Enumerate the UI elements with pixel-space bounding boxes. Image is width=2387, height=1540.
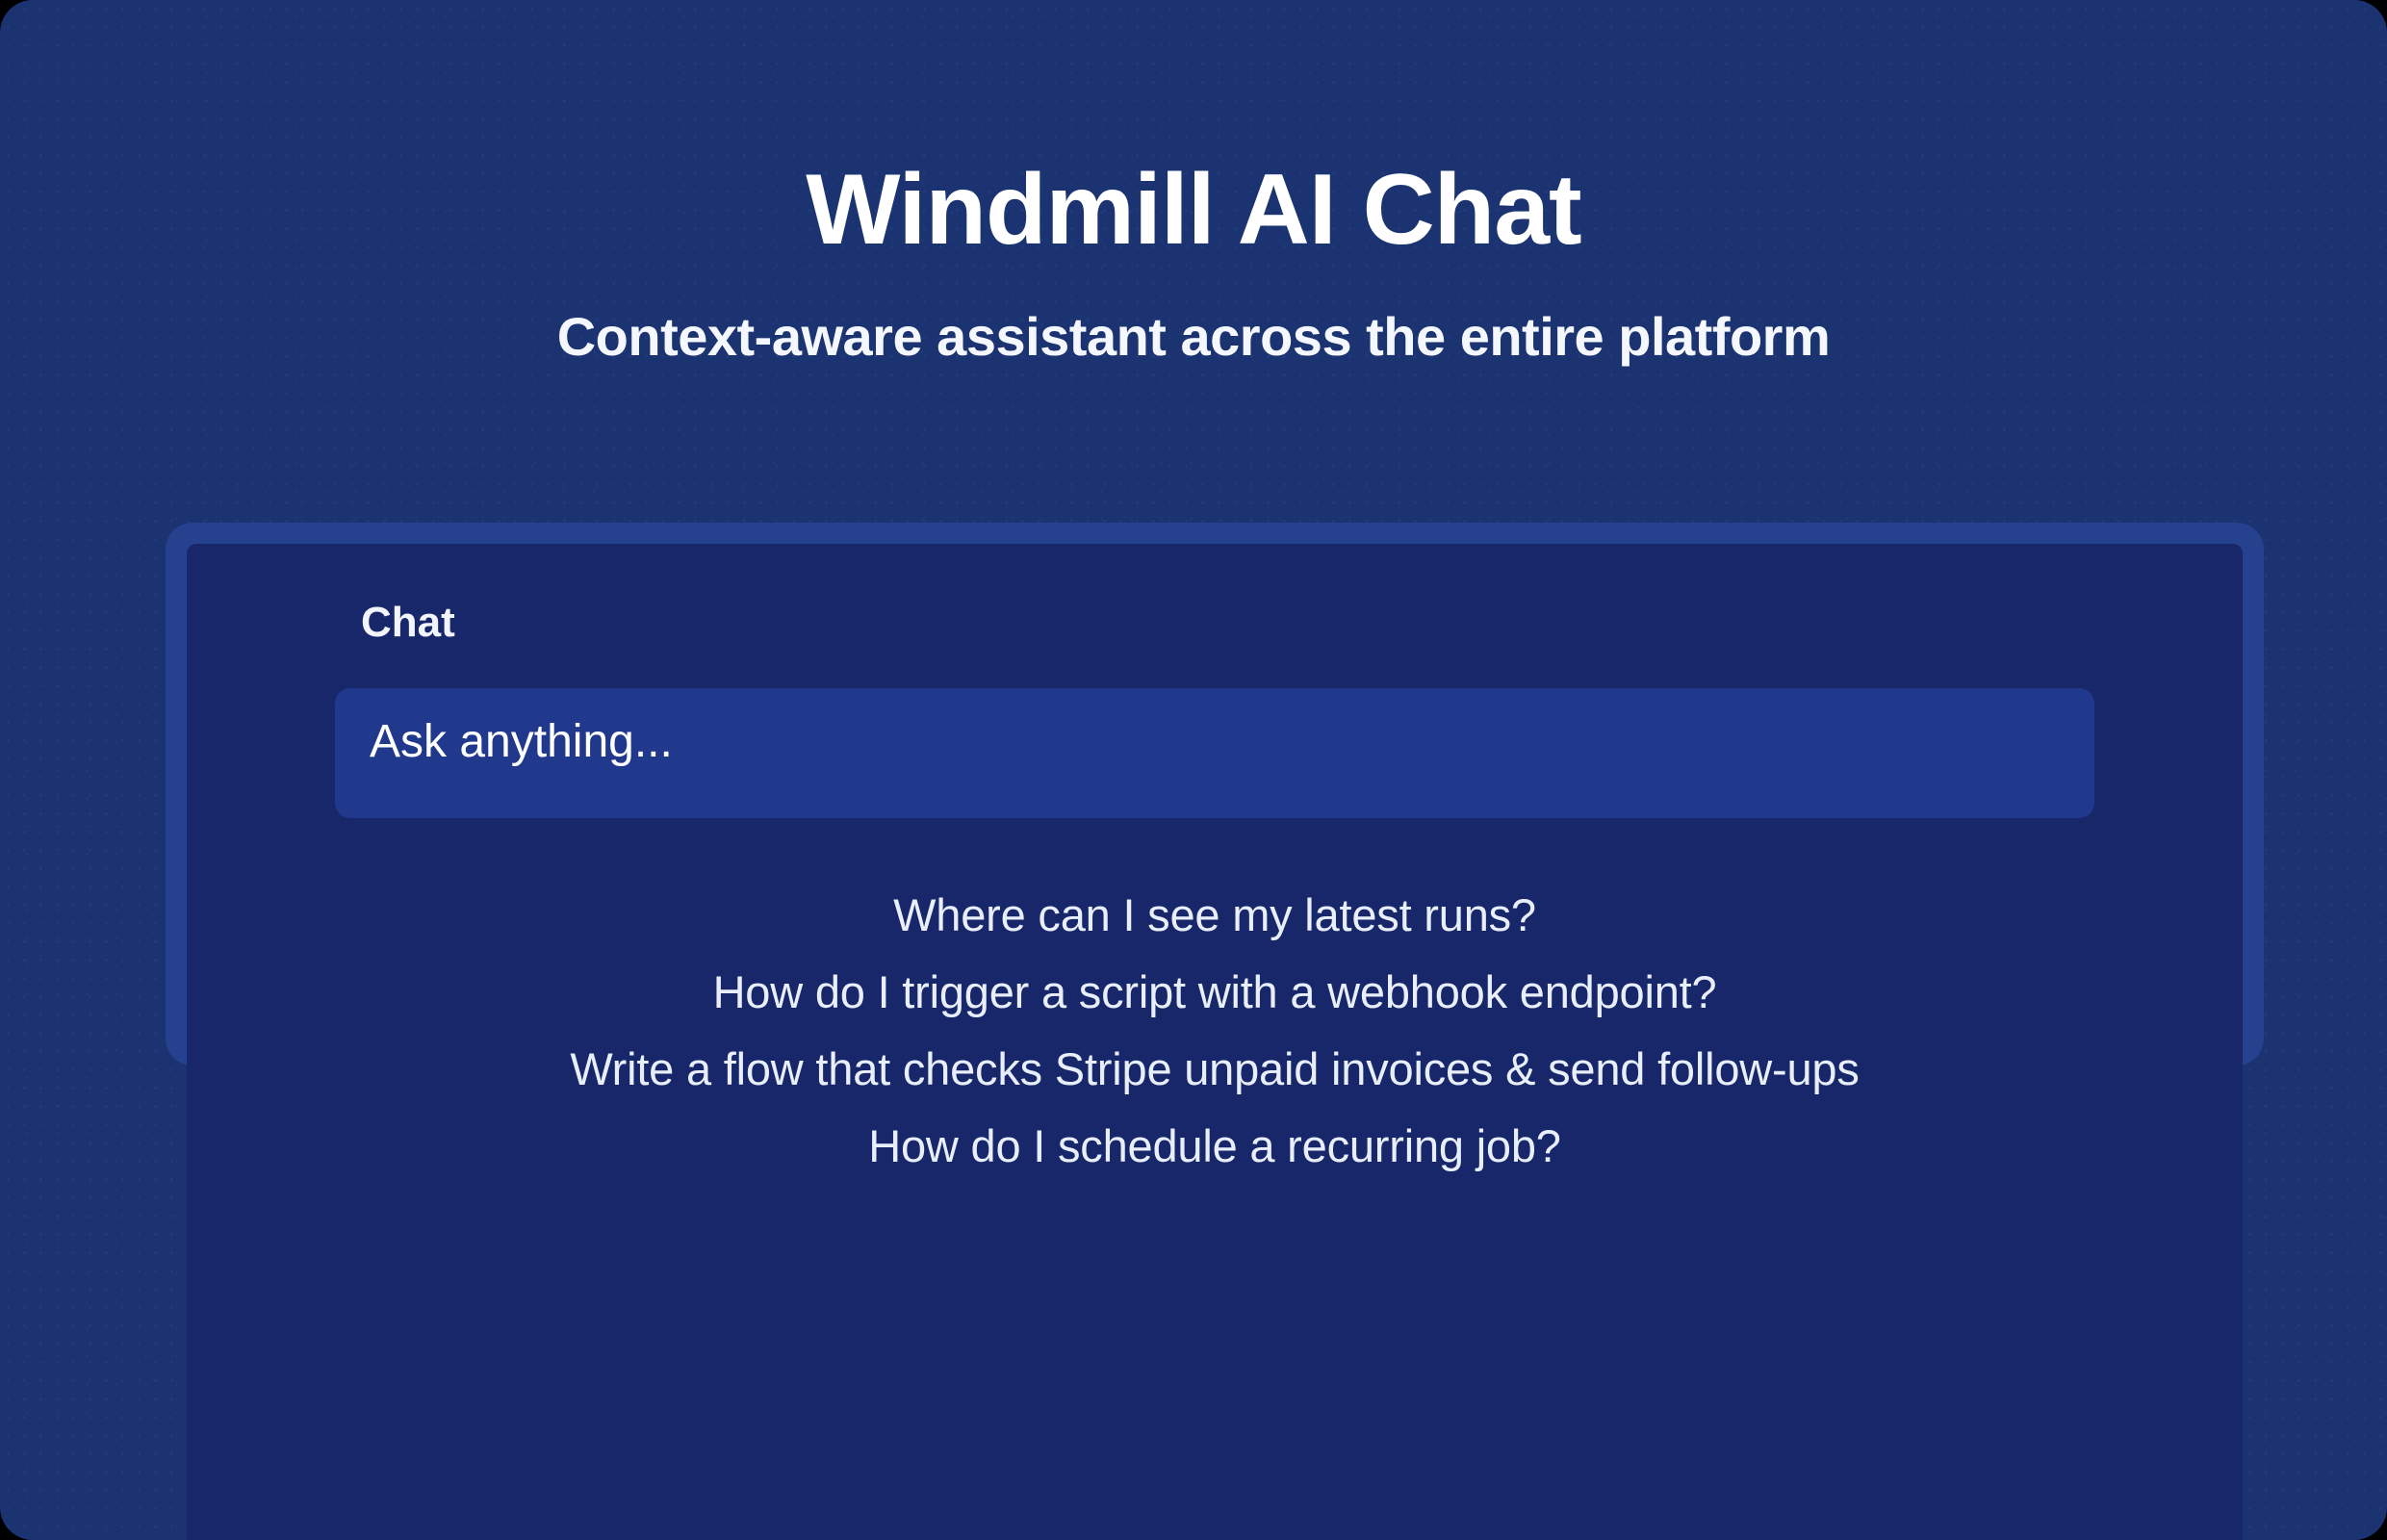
chat-section-label: Chat bbox=[361, 602, 2150, 644]
suggestion-item[interactable]: How do I schedule a recurring job? bbox=[279, 1116, 2150, 1176]
chat-input[interactable] bbox=[335, 688, 2094, 818]
page-subtitle: Context-aware assistant across the entir… bbox=[0, 260, 2387, 364]
app-page: Windmill AI Chat Context-aware assistant… bbox=[0, 0, 2387, 1540]
suggestion-list: Where can I see my latest runs? How do I… bbox=[279, 885, 2150, 1176]
suggestion-item[interactable]: Where can I see my latest runs? bbox=[279, 885, 2150, 945]
suggestion-item[interactable]: How do I trigger a script with a webhook… bbox=[279, 962, 2150, 1022]
hero-section: Windmill AI Chat Context-aware assistant… bbox=[0, 0, 2387, 364]
chat-card: Chat Where can I see my latest runs? How… bbox=[166, 523, 2264, 1065]
suggestion-item[interactable]: Write a flow that checks Stripe unpaid i… bbox=[279, 1039, 2150, 1099]
page-title: Windmill AI Chat bbox=[0, 160, 2387, 260]
chat-panel: Chat Where can I see my latest runs? How… bbox=[187, 544, 2243, 1540]
